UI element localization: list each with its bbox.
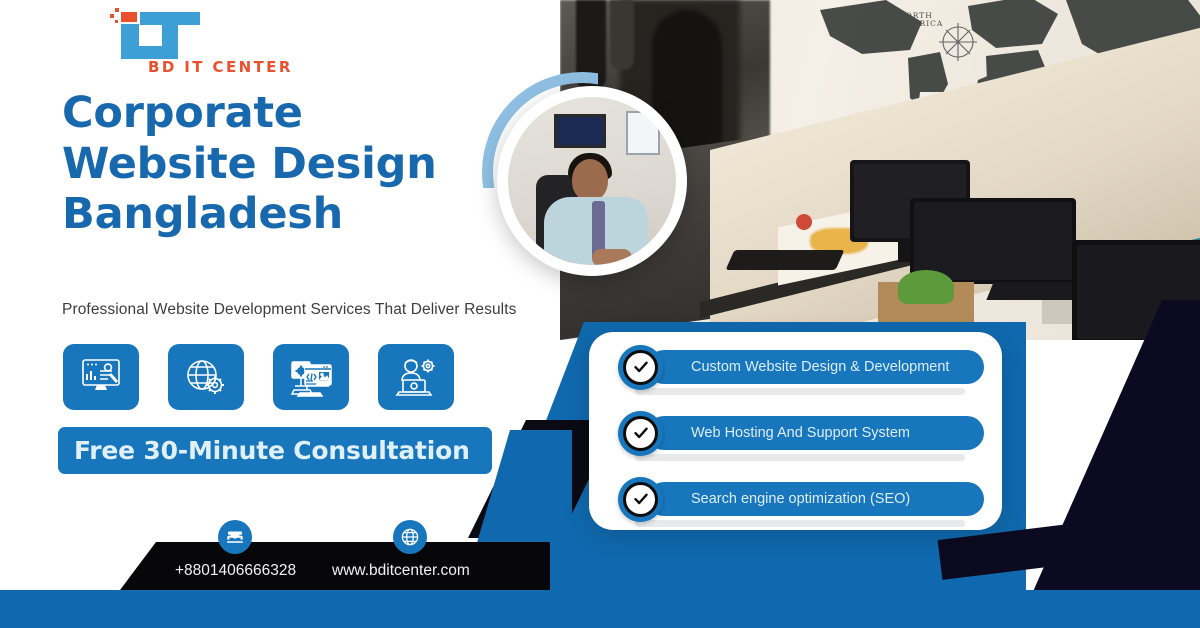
subheadline: Professional Website Development Service… — [62, 301, 516, 319]
feature-label: Custom Website Design & Development — [647, 350, 984, 384]
lt-monogram-icon — [88, 6, 268, 66]
check-circle-icon — [618, 477, 663, 522]
brand-logo[interactable]: BD IT CENTER — [88, 6, 268, 78]
page-title: Corporate Website Design Bangladesh — [62, 88, 532, 240]
list-item[interactable]: Web Hosting And Support System — [607, 414, 984, 452]
feature-label: Search engine optimization (SEO) — [647, 482, 984, 516]
svg-text:AMERICA: AMERICA — [897, 19, 943, 28]
headline-line-2: Website Design — [62, 139, 532, 190]
consultation-cta-button[interactable]: Free 30-Minute Consultation — [58, 427, 492, 474]
web-design-screens-icon[interactable] — [273, 344, 349, 410]
service-icon-row — [63, 344, 454, 410]
headline-line-3: Bangladesh — [62, 189, 532, 240]
headline-line-1: Corporate — [62, 88, 532, 139]
check-circle-icon — [618, 411, 663, 456]
feature-shadow — [635, 454, 965, 461]
bottom-blue-bar — [0, 590, 1200, 628]
executive-portrait — [508, 97, 676, 265]
feature-shadow — [635, 388, 965, 395]
decor-navy-stripe-right — [1016, 300, 1200, 628]
contact-website-text[interactable]: www.bditcenter.com — [332, 562, 470, 580]
telephone-icon[interactable] — [218, 520, 252, 554]
list-item[interactable]: Search engine optimization (SEO) — [607, 480, 984, 518]
features-card: Custom Website Design & Development Web … — [589, 332, 1002, 530]
check-circle-icon — [618, 345, 663, 390]
contact-phone-text[interactable]: +8801406666328 — [175, 562, 296, 580]
brand-name: BD IT CENTER — [148, 58, 293, 76]
analytics-monitor-wrench-icon[interactable] — [63, 344, 139, 410]
feature-shadow — [635, 520, 965, 527]
support-person-laptop-gear-icon[interactable] — [378, 344, 454, 410]
list-item[interactable]: Custom Website Design & Development — [607, 348, 984, 386]
globe-icon[interactable] — [393, 520, 427, 554]
globe-gear-icon[interactable] — [168, 344, 244, 410]
marketing-banner: NORTHAMERICA SOUTHAMERICA AFRICA OCEANIA — [0, 0, 1200, 628]
feature-label: Web Hosting And Support System — [647, 416, 984, 450]
